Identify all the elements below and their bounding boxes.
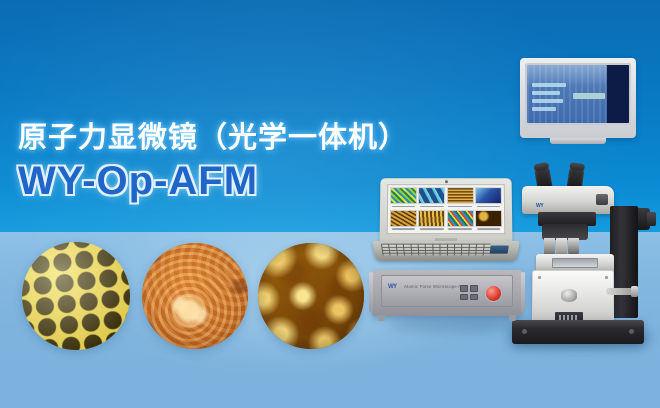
controller-foot-left [378,315,385,321]
sample-image-dot-array [22,242,130,350]
lcd-monitor [520,58,636,138]
scan-thumbnail-caption [418,227,445,231]
software-panel [532,91,560,95]
scan-thumbnail-caption [418,204,445,208]
monitor-screen[interactable] [527,65,629,123]
scan-thumbnail [390,210,417,231]
sample-image-topography [142,243,248,349]
power-knob[interactable] [485,285,502,302]
product-banner: 原子力显微镜（光学一体机） WY-Op-AFM [0,0,660,408]
screw-icon [605,276,608,279]
scanner-focus-knob[interactable] [561,289,577,302]
scan-thumbnail-image [475,210,502,227]
scan-thumbnail [447,187,474,208]
scan-thumbnail-image [418,210,445,227]
nanoparticle-vignette [258,243,364,349]
laptop-keyboard[interactable] [381,244,491,256]
software-panel [532,83,566,87]
scan-thumbnail-caption [447,204,474,208]
monitor-stand [550,138,606,144]
controller-port[interactable] [460,285,468,292]
controller-port[interactable] [470,294,478,301]
eyepiece-cup [569,162,585,171]
scan-thumbnail-image [418,187,445,204]
screw-icon [538,276,541,279]
product-title-cn: 原子力显微镜（光学一体机） [18,122,408,153]
scan-thumbnail [418,187,445,208]
headline-block: 原子力显微镜（光学一体机） WY-Op-AFM [18,122,408,201]
controller-rail-right [521,272,525,312]
monitor-bezel [525,63,631,125]
sample-image-nanoparticles [258,243,364,349]
webcam-icon [445,180,448,183]
scan-thumbnail-caption [475,227,502,231]
controller-brand-text: WY [388,283,400,292]
controller-front-panel: WY Atomic Force Microscope AFM [381,275,513,307]
product-model: WY-Op-AFM [18,161,408,201]
scan-thumbnail [418,210,445,231]
controller-port[interactable] [460,294,468,301]
dot-array-shading [22,242,130,350]
topography-vignette [142,243,248,349]
head-adjust-knob[interactable] [596,194,608,205]
microscope-column [610,206,638,318]
base-foot [522,329,527,334]
scan-thumbnail-caption [390,204,417,208]
software-panel [532,99,563,103]
controller-panel-text: Atomic Force Microscope AFM [404,284,468,289]
scan-thumbnail-image [475,187,502,204]
scan-thumbnail-caption [390,227,417,231]
scan-thumbnail-caption [447,227,474,231]
scan-thumbnail-image [447,210,474,227]
scan-thumbnail [447,210,474,231]
base-foot [629,329,634,334]
scan-thumbnail [475,210,502,231]
software-toolbar [573,93,605,99]
controller-brand-logo: WY [388,283,400,292]
scan-thumbnail-caption [475,204,502,208]
microscope-brand-text: WY [536,203,543,209]
controller-foot-right [509,315,516,321]
afm-controller: WY Atomic Force Microscope AFM [372,270,522,316]
eyepiece-cup [533,162,549,171]
microscope-brand-logo: WY [536,194,550,202]
controller-rail-left [369,272,373,312]
laptop-touchpad[interactable] [490,246,509,254]
scan-thumbnail-image [447,187,474,204]
laptop-base [372,241,520,261]
scanner-translation-arm[interactable] [606,288,634,295]
software-panel [532,107,556,111]
scan-thumbnail [475,187,502,208]
controller-port-grid[interactable] [460,285,478,300]
granite-base [512,320,644,344]
scan-thumbnail-image [390,210,417,227]
microscope-head: WY [522,186,614,214]
sample-holder[interactable] [552,258,598,268]
controller-port[interactable] [470,285,478,292]
